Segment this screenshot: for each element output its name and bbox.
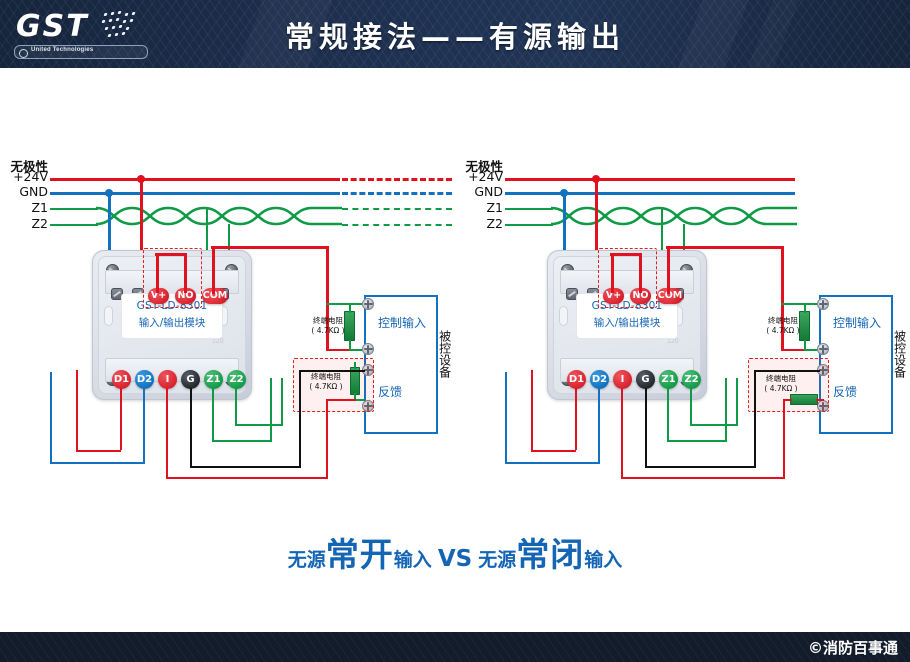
resistor-name: 终端电阻: [313, 316, 343, 325]
wire-g-bottom-r: [645, 466, 756, 468]
device-name-label-r: 被控设备: [893, 330, 906, 396]
fb-top-to-screw: [354, 370, 365, 372]
bus-z1-dashed: [342, 208, 452, 210]
wire-d1-left: [76, 450, 121, 452]
bus-label-z1-r: Z1: [459, 200, 503, 215]
module-slot-left: [104, 306, 113, 326]
terminal-g[interactable]: G: [181, 370, 200, 389]
bus-label-24v: +24V: [4, 169, 48, 184]
terminal-d1-r[interactable]: D1: [567, 370, 586, 389]
wire-com-right: [211, 246, 328, 249]
device-label-control-input: 控制输入: [378, 314, 426, 331]
caption-part1-keyword: 常开: [326, 535, 394, 574]
wire-d1-down: [120, 388, 122, 450]
bus-line-z1-a: [50, 208, 98, 210]
twisted-pair-z: [96, 202, 342, 232]
bus-label-gnd: GND: [4, 184, 48, 199]
wire-z2-up: [281, 378, 283, 425]
twisted-pair-z-r: [551, 202, 797, 232]
bus-label-24v-r: +24V: [459, 169, 503, 184]
resistor-top-to-term: [326, 303, 351, 305]
bus-gnd-dashed: [342, 192, 452, 195]
resistor-top-to-term-r: [781, 303, 806, 305]
wire-z1-up-r: [725, 378, 727, 441]
device-label-feedback-r: 反馈: [833, 383, 857, 400]
wire-vplus-up-r: [611, 253, 614, 293]
slide-page: GST United Technologies 常规接法——有源输出 无极性 +…: [0, 0, 910, 662]
wire-i-bottom: [166, 477, 327, 479]
wire-g-bottom: [190, 466, 301, 468]
device-label-control-input-r: 控制输入: [833, 314, 881, 331]
wire-i-up-to-term: [166, 388, 168, 478]
footer-credit: ©消防百事通: [808, 637, 898, 658]
wire-z2-down: [235, 388, 237, 424]
resistor-name-fb-r: 终端电阻: [766, 374, 796, 383]
output-loop-dashbox-r: [598, 248, 657, 308]
wire-g-up-to-term: [190, 388, 192, 468]
node-24v: [137, 175, 145, 183]
bottom-caption: 无源常开输入VS无源常闭输入: [0, 528, 910, 576]
wire-d1-left-r: [531, 450, 576, 452]
wire-i-bottom-r: [621, 477, 784, 479]
footer-texture: [0, 632, 910, 662]
terminal-g-r[interactable]: G: [636, 370, 655, 389]
wire-vplus-no-link-r: [610, 253, 640, 256]
wire-com-down-r: [781, 246, 784, 311]
wire-d2-left-r: [505, 462, 600, 464]
wire-z1-down: [212, 388, 214, 440]
device-screw-ctrl-1-r: [817, 298, 829, 310]
module-type-r: 输入/输出模块: [577, 315, 677, 330]
wire-no-up: [184, 253, 187, 293]
resistor-value-fb-r: ( 4.7KΩ ): [764, 384, 797, 393]
terminal-com-r[interactable]: COM: [657, 288, 683, 304]
bus-24v-dashed: [342, 178, 452, 181]
resistor-label-feedback: 终端电阻 ( 4.7KΩ ): [303, 372, 349, 392]
wire-g-to-feedback-r: [754, 370, 820, 372]
resistor-bottom-to-red: [326, 349, 351, 351]
wire-vplus-up: [156, 253, 159, 293]
wire-z2-down-r: [690, 388, 692, 424]
bus-line-24v: [50, 178, 340, 181]
wire-vplus-no-link: [155, 253, 185, 256]
wire-i-feedback-vert-r: [783, 399, 785, 479]
module-type: 输入/输出模块: [122, 315, 222, 330]
resistor-label-feedback-r: 终端电阻 ( 4.7KΩ ): [755, 374, 807, 394]
module-side-mark: 120: [212, 338, 224, 345]
wire-z1-right-r: [667, 440, 727, 442]
wire-d2-left: [50, 462, 145, 464]
wire-i-feedback-vert: [326, 399, 328, 479]
device-label-feedback: 反馈: [378, 383, 402, 400]
terminal-z1-r[interactable]: Z1: [659, 370, 678, 389]
bus-label-z2: Z2: [4, 216, 48, 231]
terminal-d2-r[interactable]: D2: [590, 370, 609, 389]
wire-com-down: [326, 246, 329, 311]
terminal-com[interactable]: COM: [202, 288, 228, 304]
wire-i-feedback-h: [326, 399, 356, 401]
wire-i-up-to-term-r: [621, 388, 623, 478]
fb-resistor-lead-top: [354, 362, 356, 369]
bus-label-z2-r: Z2: [459, 216, 503, 231]
wire-d1-down-r: [575, 388, 577, 450]
fb-resistor-lead-right-r: [816, 399, 824, 401]
terminal-z2-r[interactable]: Z2: [682, 370, 701, 389]
resistor-label-control-r: 终端电阻 ( 4.7KΩ ): [760, 316, 806, 336]
wire-z1-up: [270, 378, 272, 441]
bus-line-gnd-r: [505, 192, 795, 195]
wire-g-vertical-r: [754, 370, 756, 468]
resistor-bottom-to-red-r: [781, 349, 806, 351]
caption-part1-prefix: 无源: [288, 549, 326, 571]
resistor-feedback-r: [790, 394, 818, 405]
wire-d2-down: [143, 388, 145, 462]
wire-g-to-feedback: [299, 370, 355, 372]
bus-line-gnd: [50, 192, 340, 195]
resistor-value: ( 4.7KΩ ): [311, 326, 344, 335]
terminal-i[interactable]: I: [158, 370, 177, 389]
node-gnd: [105, 189, 113, 197]
resistor-name-fb: 终端电阻: [311, 372, 341, 381]
bus-line-z2-a: [50, 224, 98, 226]
wire-z2-up-r: [736, 378, 738, 425]
wire-g-vertical: [299, 370, 301, 468]
output-loop-dashbox: [143, 248, 202, 308]
bus-line-z2-r: [505, 224, 553, 226]
caption-part1-suffix: 输入: [394, 549, 432, 571]
terminal-z2[interactable]: Z2: [227, 370, 246, 389]
bus-label-gnd-r: GND: [459, 184, 503, 199]
wire-com-up: [212, 246, 215, 294]
node-24v-r: [592, 175, 600, 183]
resistor-label-control: 终端电阻 ( 4.7KΩ ): [305, 316, 351, 336]
caption-part2-suffix: 输入: [584, 549, 622, 571]
wire-com-up-r: [667, 246, 670, 294]
module-side-mark-r: 120: [667, 338, 679, 345]
resistor-name-r: 终端电阻: [768, 316, 798, 325]
device-screw-ctrl-2-r: [817, 343, 829, 355]
wire-z1-right: [212, 440, 272, 442]
page-footer: ©消防百事通: [0, 632, 910, 662]
device-name-label: 被控设备: [438, 330, 451, 396]
wire-no-up-r: [639, 253, 642, 293]
wire-z2-right: [235, 424, 283, 426]
wire-z1-down-r: [667, 388, 669, 440]
caption-vs: VS: [432, 546, 478, 572]
bus-z2-dashed: [342, 224, 452, 226]
caption-part2-prefix: 无源: [478, 549, 516, 571]
terminal-d2[interactable]: D2: [135, 370, 154, 389]
wire-com-right-r: [666, 246, 783, 249]
wire-z2-right-r: [690, 424, 738, 426]
wire-d2-up: [50, 372, 52, 463]
device-screw-ctrl-1: [362, 298, 374, 310]
terminal-d1[interactable]: D1: [112, 370, 131, 389]
bus-label-z1: Z1: [4, 200, 48, 215]
caption-part2-keyword: 常闭: [516, 535, 584, 574]
bus-line-24v-r: [505, 178, 795, 181]
device-screw-ctrl-2: [362, 343, 374, 355]
resistor-value-r: ( 4.7KΩ ): [766, 326, 799, 335]
terminal-i-r[interactable]: I: [613, 370, 632, 389]
wire-d1-up: [76, 370, 78, 451]
node-gnd-r: [560, 189, 568, 197]
wire-d2-down-r: [598, 388, 600, 462]
bus-line-z1-r: [505, 208, 553, 210]
wire-d2-up-r: [505, 372, 507, 463]
wire-d1-up-r: [531, 370, 533, 451]
resistor-value-fb: ( 4.7KΩ ): [309, 382, 342, 391]
terminal-z1[interactable]: Z1: [204, 370, 223, 389]
wire-g-up-to-term-r: [645, 388, 647, 468]
module-slot-left-r: [559, 306, 568, 326]
